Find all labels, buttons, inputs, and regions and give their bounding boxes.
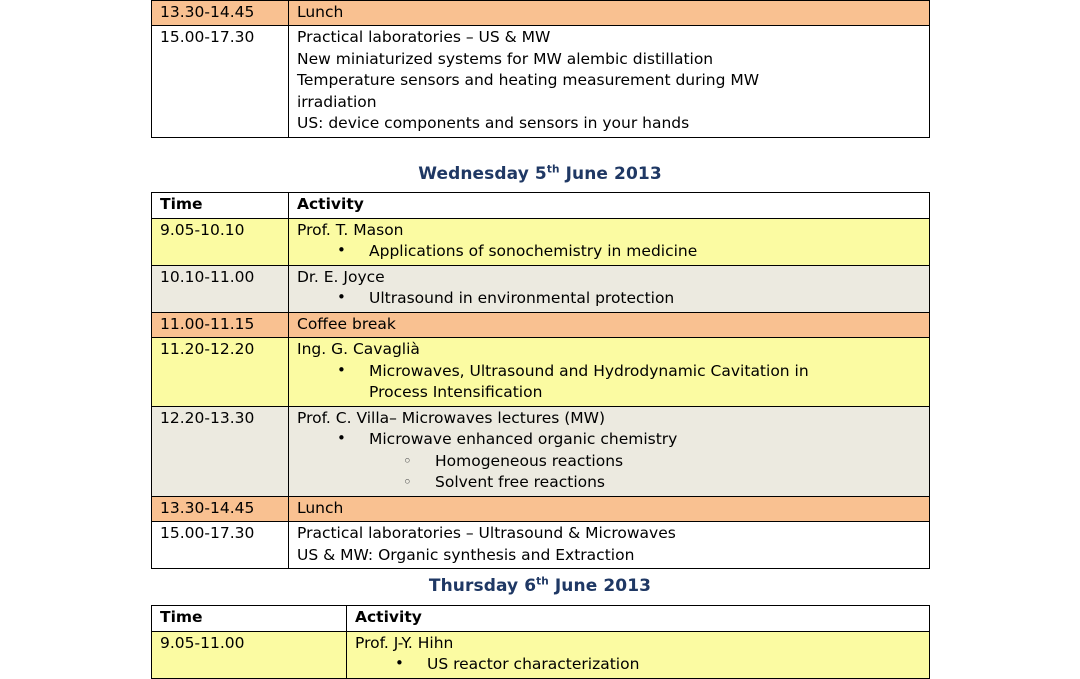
activity-line: New miniaturized systems for MW alembic … (297, 49, 929, 71)
day-heading-rest: June 2013 (560, 164, 662, 184)
activity-bullet: US reactor characterization (355, 654, 929, 676)
cell-time: 13.30-14.45 (152, 0, 289, 26)
cell-time: 13.30-14.45 (152, 496, 289, 522)
activity-bullet: Microwaves, Ultrasound and Hydrodynamic … (297, 361, 929, 383)
day-heading-rest: June 2013 (549, 576, 651, 596)
table-row: 10.10-11.00 Dr. E. Joyce Ultrasound in e… (152, 265, 930, 312)
schedule-table-wednesday: Time Activity 9.05-10.10 Prof. T. Mason … (151, 192, 930, 569)
activity-line: Practical laboratories – US & MW (297, 27, 929, 49)
activity-line: Practical laboratories – Ultrasound & Mi… (297, 523, 929, 545)
cell-activity: Ing. G. Cavaglià Microwaves, Ultrasound … (289, 338, 930, 407)
table-header-row: Time Activity (152, 606, 930, 632)
table-row: 15.00-17.30 Practical laboratories – US … (152, 26, 930, 138)
activity-line: irradiation (297, 92, 929, 114)
cell-time: 10.10-11.00 (152, 265, 289, 312)
table-head: Time Activity (152, 606, 930, 632)
activity-bullet-continuation: Process Intensification (297, 382, 929, 404)
day-heading-ordinal: th (536, 575, 549, 587)
activity-subbullet: Solvent free reactions (297, 472, 929, 494)
cell-time: 11.20-12.20 (152, 338, 289, 407)
cell-time: 12.20-13.30 (152, 406, 289, 496)
table-body: 9.05-11.00 Prof. J-Y. Hihn US reactor ch… (152, 631, 930, 678)
activity-speaker: Prof. T. Mason (297, 220, 929, 242)
day-heading-text: Wednesday 5 (418, 164, 547, 184)
column-header-time: Time (152, 193, 289, 219)
activity-line: Temperature sensors and heating measurem… (297, 70, 929, 92)
column-header-activity: Activity (289, 193, 930, 219)
column-header-time: Time (152, 606, 347, 632)
document-page: Applications of Microwaves in polymer pr… (0, 0, 1080, 675)
table-row: 12.20-13.30 Prof. C. Villa– Microwaves l… (152, 406, 930, 496)
day-heading-ordinal: th (547, 163, 560, 175)
cell-time: 9.05-10.10 (152, 218, 289, 265)
day-heading-thursday: Thursday 6th June 2013 (0, 576, 1080, 596)
cell-time: 15.00-17.30 (152, 522, 289, 569)
activity-line: Lunch (297, 498, 929, 520)
table-row: 13.30-14.45 Lunch (152, 0, 930, 26)
column-header-activity: Activity (347, 606, 930, 632)
activity-speaker: Prof. J-Y. Hihn (355, 633, 929, 655)
cell-activity: Prof. J-Y. Hihn US reactor characterizat… (347, 631, 930, 678)
cell-activity: Lunch (289, 496, 930, 522)
cell-activity: Lunch (289, 0, 930, 26)
activity-bullet: Applications of sonochemistry in medicin… (297, 241, 929, 263)
table-head: Time Activity (152, 193, 930, 219)
activity-line: US: device components and sensors in you… (297, 113, 929, 135)
table-body: Applications of Microwaves in polymer pr… (152, 0, 930, 137)
schedule-table-thursday: Time Activity 9.05-11.00 Prof. J-Y. Hihn… (151, 605, 930, 679)
activity-line: Lunch (297, 2, 929, 24)
table-row: 9.05-10.10 Prof. T. Mason Applications o… (152, 218, 930, 265)
table-body: 9.05-10.10 Prof. T. Mason Applications o… (152, 218, 930, 569)
activity-speaker: Ing. G. Cavaglià (297, 339, 929, 361)
table-row: 11.00-11.15 Coffee break (152, 312, 930, 338)
table-row: 15.00-17.30 Practical laboratories – Ult… (152, 522, 930, 569)
cell-activity: Dr. E. Joyce Ultrasound in environmental… (289, 265, 930, 312)
activity-bullet: Microwave enhanced organic chemistry (297, 429, 929, 451)
cell-activity: Prof. T. Mason Applications of sonochemi… (289, 218, 930, 265)
cell-time: 9.05-11.00 (152, 631, 347, 678)
day-heading-text: Thursday 6 (429, 576, 536, 596)
table-row: 11.20-12.20 Ing. G. Cavaglià Microwaves,… (152, 338, 930, 407)
day-heading-wednesday: Wednesday 5th June 2013 (0, 164, 1080, 184)
activity-line: Coffee break (297, 314, 929, 336)
cell-activity: Coffee break (289, 312, 930, 338)
activity-bullet: Ultrasound in environmental protection (297, 288, 929, 310)
cell-time: 11.00-11.15 (152, 312, 289, 338)
schedule-table-tuesday: Applications of Microwaves in polymer pr… (151, 0, 930, 138)
cell-time: 15.00-17.30 (152, 26, 289, 138)
table-row: 13.30-14.45 Lunch (152, 496, 930, 522)
cell-activity: Practical laboratories – US & MW New min… (289, 26, 930, 138)
activity-speaker: Prof. C. Villa– Microwaves lectures (MW) (297, 408, 929, 430)
activity-subbullet: Homogeneous reactions (297, 451, 929, 473)
activity-line: US & MW: Organic synthesis and Extractio… (297, 545, 929, 567)
activity-speaker: Dr. E. Joyce (297, 267, 929, 289)
cell-activity: Practical laboratories – Ultrasound & Mi… (289, 522, 930, 569)
activity-bullet-continuation-text: Process Intensification (369, 383, 542, 401)
table-header-row: Time Activity (152, 193, 930, 219)
table-row: 9.05-11.00 Prof. J-Y. Hihn US reactor ch… (152, 631, 930, 678)
cell-activity: Prof. C. Villa– Microwaves lectures (MW)… (289, 406, 930, 496)
